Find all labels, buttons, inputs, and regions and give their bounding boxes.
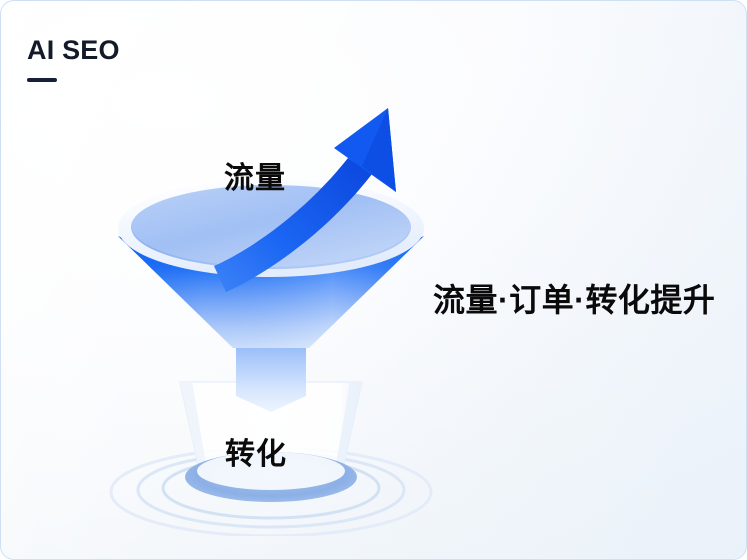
slide-canvas: AI SEO 流量·订单·转化提升 xyxy=(0,0,747,560)
title-underline-rule xyxy=(27,78,57,82)
page-title: AI SEO xyxy=(27,37,120,64)
label-conversion: 转化 xyxy=(225,429,287,473)
headline-text: 流量·订单·转化提升 xyxy=(433,275,715,321)
label-traffic: 流量 xyxy=(224,153,286,197)
brand-title-block: AI SEO xyxy=(27,37,120,82)
